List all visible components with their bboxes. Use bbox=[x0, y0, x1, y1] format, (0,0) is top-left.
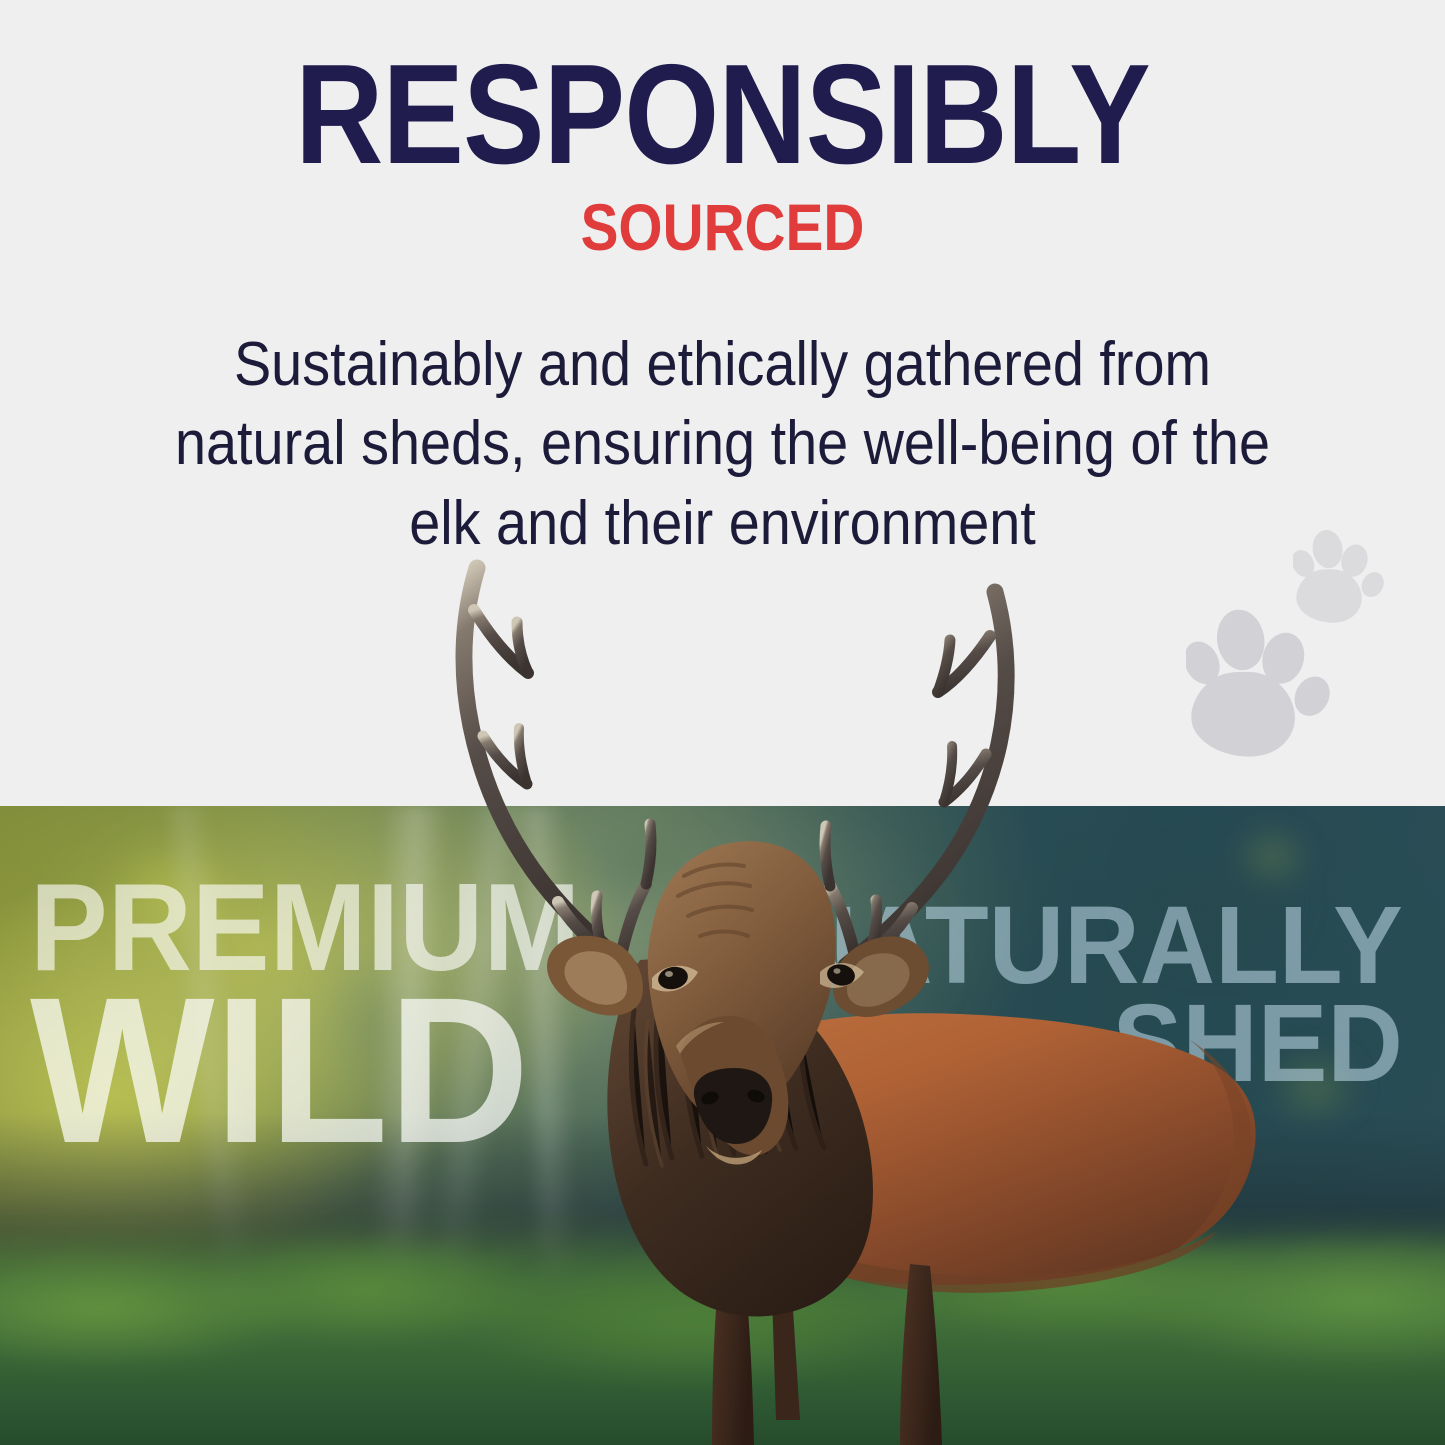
tagline-right-line2: SHED bbox=[782, 998, 1403, 1090]
description-text: Sustainably and ethically gathered from … bbox=[153, 325, 1292, 563]
product-feature-banner: RESPONSIBLY SOURCED Sustainably and ethi… bbox=[0, 0, 1445, 1445]
top-copy-panel: RESPONSIBLY SOURCED Sustainably and ethi… bbox=[0, 0, 1445, 806]
foreground-hedge bbox=[0, 1229, 1445, 1445]
paw-print-icon bbox=[1293, 527, 1389, 625]
tagline-right-line1: NATURALLY bbox=[782, 900, 1403, 992]
tagline-naturally-shed: NATURALLY SHED bbox=[749, 900, 1403, 1091]
headline-block: RESPONSIBLY SOURCED bbox=[0, 46, 1445, 260]
tagline-premium-wild: PREMIUM WILD bbox=[30, 876, 616, 1159]
page-subtitle: SOURCED bbox=[101, 194, 1344, 260]
page-title: RESPONSIBLY bbox=[101, 46, 1344, 184]
paw-print-icon bbox=[1186, 605, 1338, 760]
tagline-left-line2: WILD bbox=[30, 984, 580, 1159]
